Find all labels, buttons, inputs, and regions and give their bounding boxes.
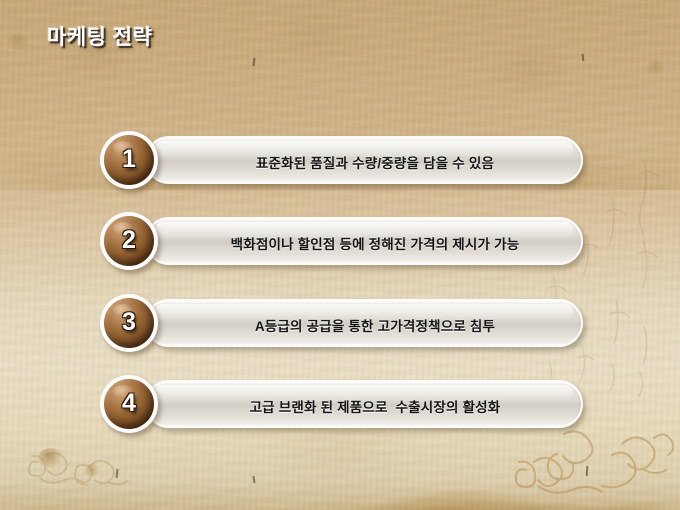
number-badge: 1: [100, 131, 158, 189]
strategy-pill-bar[interactable]: 고급 브랜화 된 제품으로 수출시장의 활성화: [145, 380, 583, 428]
badge-number: 2: [100, 212, 158, 270]
badge-number: 1: [100, 131, 158, 189]
list-item[interactable]: 백화점이나 할인점 등에 정해진 가격의 제시가 가능 2: [0, 212, 680, 270]
strategy-pill-bar[interactable]: 표준화된 품질과 수량/중량을 담을 수 있음: [145, 136, 583, 184]
presentation-slide: 마케팅 전략 표준화된 품질과 수량/중량을 담을 수 있음 1 백화점이나 할…: [0, 0, 680, 510]
number-badge: 2: [100, 212, 158, 270]
badge-number: 4: [100, 375, 158, 433]
strategy-pill-bar[interactable]: A등급의 공급을 통한 고가격정책으로 침투: [145, 299, 583, 347]
strategy-text: 고급 브랜화 된 제품으로 수출시장의 활성화: [195, 382, 555, 430]
strategy-pill-bar[interactable]: 백화점이나 할인점 등에 정해진 가격의 제시가 가능: [145, 217, 583, 265]
number-badge: 4: [100, 375, 158, 433]
strategy-text: 백화점이나 할인점 등에 정해진 가격의 제시가 가능: [195, 219, 555, 267]
badge-number: 3: [100, 294, 158, 352]
strategy-text: A등급의 공급을 통한 고가격정책으로 침투: [195, 301, 555, 349]
list-item[interactable]: 고급 브랜화 된 제품으로 수출시장의 활성화 4: [0, 375, 680, 433]
number-badge: 3: [100, 294, 158, 352]
list-item[interactable]: 표준화된 품질과 수량/중량을 담을 수 있음 1: [0, 131, 680, 189]
strategy-text: 표준화된 품질과 수량/중량을 담을 수 있음: [195, 138, 555, 186]
list-item[interactable]: A등급의 공급을 통한 고가격정책으로 침투 3: [0, 294, 680, 352]
strategy-list: 표준화된 품질과 수량/중량을 담을 수 있음 1 백화점이나 할인점 등에 정…: [0, 0, 680, 510]
